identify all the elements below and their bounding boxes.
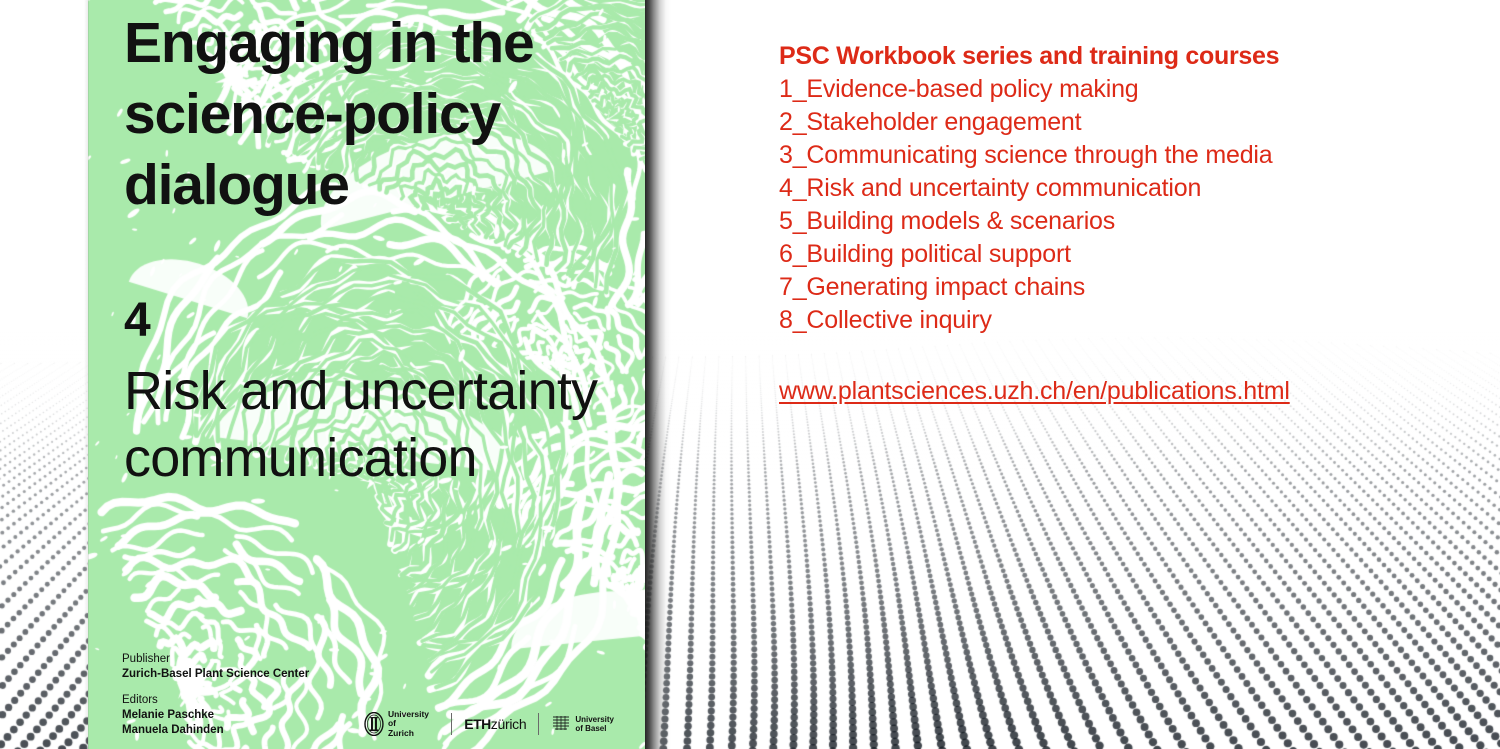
unibas-crest-icon — [551, 714, 571, 734]
cover-subtitle: Risk and uncertainty communication — [124, 358, 634, 492]
series-list: 1_Evidence-based policy making 2_Stakeho… — [779, 73, 1459, 337]
book-left-edge-shadow — [84, 0, 89, 749]
partner-logos: University of Zurich ETHzürich — [364, 706, 614, 742]
cover-volume-number: 4 — [124, 296, 150, 346]
uzh-logo-line-1: University of — [388, 710, 439, 729]
series-item-5[interactable]: 5_Building models & scenarios — [779, 205, 1459, 238]
eth-zurich-logo: ETHzürich — [464, 717, 526, 731]
poster-canvas: Engaging in the science-policy dialogue … — [0, 0, 1500, 749]
publisher-label: Publisher — [122, 652, 422, 667]
uzh-seal-icon — [364, 712, 384, 736]
series-item-4[interactable]: 4_Risk and uncertainty communication — [779, 172, 1459, 205]
eth-logo-text: ETHzürich — [464, 717, 526, 731]
series-item-3[interactable]: 3_Communicating science through the medi… — [779, 139, 1459, 172]
university-of-basel-logo: University of Basel — [551, 714, 614, 734]
series-item-2[interactable]: 2_Stakeholder engagement — [779, 106, 1459, 139]
publications-link[interactable]: www.plantsciences.uzh.ch/en/publications… — [779, 375, 1290, 407]
logo-divider-2 — [538, 713, 539, 735]
series-item-6[interactable]: 6_Building political support — [779, 238, 1459, 271]
cover-title: Engaging in the science-policy dialogue — [124, 8, 644, 221]
eth-logo-bold: ETH — [464, 716, 491, 732]
series-item-8[interactable]: 8_Collective inquiry — [779, 304, 1459, 337]
logo-divider-1 — [451, 713, 452, 735]
uzh-logo-text: University of Zurich — [388, 710, 439, 739]
series-item-1[interactable]: 1_Evidence-based policy making — [779, 73, 1459, 106]
series-heading: PSC Workbook series and training courses — [779, 40, 1459, 73]
book-right-edge-shadow — [645, 0, 671, 749]
university-of-zurich-logo: University of Zurich — [364, 710, 439, 739]
publisher-name: Zurich-Basel Plant Science Center — [122, 667, 422, 682]
credits-spacer — [122, 682, 422, 693]
book-cover: Engaging in the science-policy dialogue … — [88, 0, 645, 749]
unibas-logo-line-1: University — [575, 715, 614, 724]
series-item-7[interactable]: 7_Generating impact chains — [779, 271, 1459, 304]
unibas-logo-line-2: of Basel — [575, 724, 614, 733]
uzh-logo-line-2: Zurich — [388, 729, 439, 739]
eth-logo-light: zürich — [491, 716, 527, 732]
unibas-logo-text: University of Basel — [575, 715, 614, 733]
series-panel: PSC Workbook series and training courses… — [779, 40, 1459, 407]
